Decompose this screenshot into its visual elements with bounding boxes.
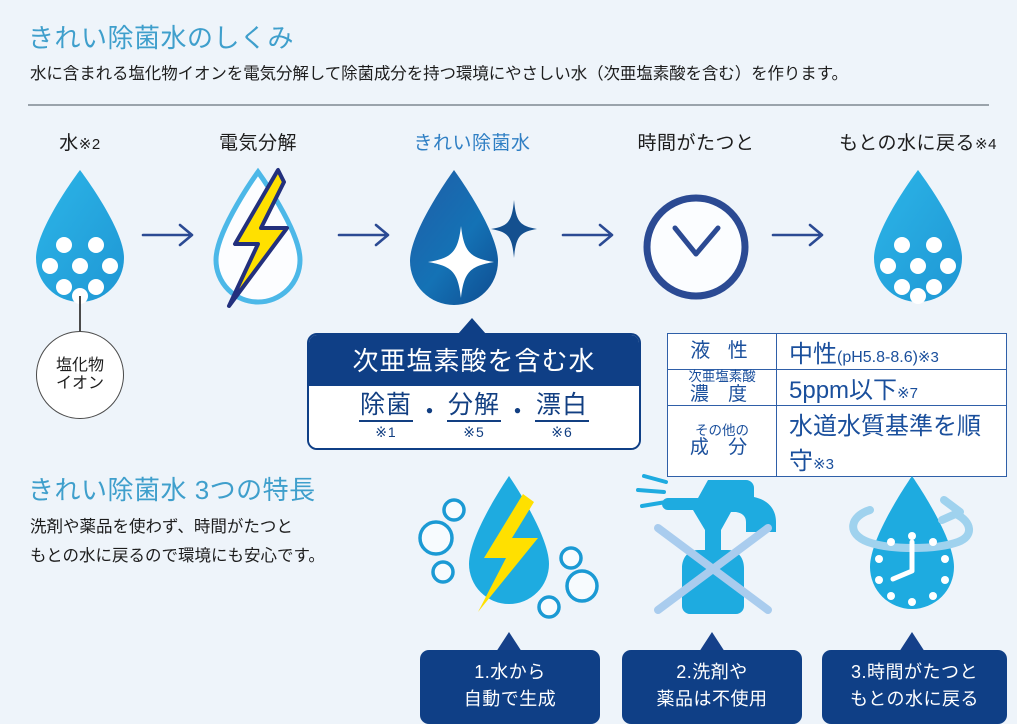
spec-key-text-top: その他の	[674, 424, 770, 439]
table-row: 液 性 中性(pH5.8-8.6)※3	[668, 334, 1007, 370]
hypochlorous-water-banner: 次亜塩素酸を含む水 除菌 ※1 ・ 分解 ※5 ・ 漂白 ※6	[307, 333, 641, 450]
spec-value-liquid-property: 中性(pH5.8-8.6)※3	[777, 334, 1007, 370]
ion-connector-line	[79, 296, 81, 334]
spec-value-main: 5ppm以下	[789, 377, 897, 404]
spec-key-other-components: その他の 成 分	[668, 406, 777, 477]
step-label-text: もとの水に戻る	[839, 133, 975, 154]
pill-line2: もとの水に戻る	[822, 686, 1007, 713]
spec-value-hypochlorous-concentration: 5ppm以下※7	[777, 370, 1007, 406]
electrolysis-drop-icon	[205, 166, 311, 315]
step-label-time-passes: 時間がたつと	[637, 128, 754, 155]
pill-pointer-2-icon	[699, 632, 725, 652]
flow-arrow-1-icon	[141, 222, 199, 253]
term-word: 除菌	[359, 391, 413, 422]
drop-lightning-bubbles-icon	[414, 472, 604, 627]
table-row: 次亜塩素酸 濃 度 5ppm以下※7	[668, 370, 1007, 406]
pill-line1: 3.時間がたつと	[822, 659, 1007, 686]
drop-clock-recycle-icon	[832, 472, 992, 627]
feature-pill-returns-to-water: 3.時間がたつと もとの水に戻る	[822, 650, 1007, 724]
step-label-text: きれい除菌水	[413, 133, 530, 154]
pill-line1: 2.洗剤や	[622, 659, 802, 686]
features-description-line2: もとの水に戻るので環境にも安心です。	[30, 542, 325, 571]
step-label-note: ※2	[79, 136, 101, 153]
clock-icon	[637, 188, 755, 311]
ion-label-line2: イオン	[56, 375, 104, 393]
term-note: ※6	[551, 423, 573, 441]
features-description: 洗剤や薬品を使わず、時間がたつと もとの水に戻るので環境にも安心です。	[30, 513, 325, 571]
pill-pointer-3-icon	[899, 632, 925, 652]
page-title: きれい除菌水のしくみ	[28, 18, 294, 55]
header-divider	[28, 104, 989, 106]
features-description-line1: 洗剤や薬品を使わず、時間がたつと	[30, 513, 325, 542]
spec-key-text-bottom: 成 分	[674, 438, 770, 459]
pill-line2: 自動で生成	[420, 686, 600, 713]
step-label-text: 時間がたつと	[637, 133, 754, 154]
infographic-page: きれい除菌水のしくみ 水に含まれる塩化物イオンを電気分解して除菌成分を持つ環境に…	[0, 0, 1017, 722]
features-title: きれい除菌水 3つの特長	[28, 470, 316, 507]
flow-arrow-4-icon	[771, 222, 829, 253]
term-separator: ・	[417, 392, 443, 428]
spec-value-note: ※3	[918, 349, 939, 366]
sanitizing-water-drop-icon	[404, 164, 540, 317]
banner-pointer-icon	[458, 318, 486, 334]
banner-terms: 除菌 ※1 ・ 分解 ※5 ・ 漂白 ※6	[309, 391, 639, 441]
spec-value-note: ※7	[897, 385, 918, 402]
step-label-text: 水	[59, 133, 79, 154]
feature-pill-no-detergent: 2.洗剤や 薬品は不使用	[622, 650, 802, 724]
table-row: その他の 成 分 水道水質基準を順守※3	[668, 406, 1007, 477]
step-label-water: 水※2	[59, 128, 100, 155]
ion-label-line1: 塩化物	[56, 357, 104, 375]
spec-value-other-components: 水道水質基準を順守※3	[777, 406, 1007, 477]
term-bleach: 漂白 ※6	[535, 391, 589, 441]
step-label-returns-to-water: もとの水に戻る※4	[839, 128, 997, 155]
pill-pointer-1-icon	[496, 632, 522, 652]
banner-body: 除菌 ※1 ・ 分解 ※5 ・ 漂白 ※6	[309, 386, 639, 448]
term-note: ※1	[375, 423, 397, 441]
pill-line1: 1.水から	[420, 659, 600, 686]
flow-arrow-3-icon	[561, 222, 619, 253]
step-label-sanitizing-water: きれい除菌水	[413, 128, 530, 155]
spec-key-liquid-property: 液 性	[668, 334, 777, 370]
spec-key-hypochlorous-concentration: 次亜塩素酸 濃 度	[668, 370, 777, 406]
spray-bottle-crossed-icon	[622, 472, 802, 627]
lead-description: 水に含まれる塩化物イオンを電気分解して除菌成分を持つ環境にやさしい水（次亜塩素酸…	[30, 60, 848, 84]
step-label-note: ※4	[975, 136, 997, 153]
specification-table: 液 性 中性(pH5.8-8.6)※3 次亜塩素酸 濃 度 5ppm以下※7 そ…	[667, 333, 1007, 477]
term-note: ※5	[463, 423, 485, 441]
spec-key-text: 液 性	[690, 340, 754, 362]
step-label-text: 電気分解	[219, 133, 297, 154]
banner-heading: 次亜塩素酸を含む水	[309, 335, 639, 386]
term-decompose: 分解 ※5	[447, 391, 501, 441]
step-label-electrolysis: 電気分解	[219, 128, 297, 155]
spec-key-text-bottom: 濃 度	[674, 385, 770, 406]
spec-key-text-top: 次亜塩素酸	[674, 370, 770, 385]
term-word: 分解	[447, 391, 501, 422]
water-drop-ions-icon	[29, 166, 131, 311]
spec-value-small: (pH5.8-8.6)	[837, 349, 918, 366]
term-separator: ・	[505, 392, 531, 428]
spec-value-note: ※3	[813, 456, 834, 473]
flow-arrow-2-icon	[337, 222, 395, 253]
spec-value-main: 中性	[789, 341, 837, 368]
pill-line2: 薬品は不使用	[622, 686, 802, 713]
chloride-ion-callout: 塩化物 イオン	[36, 331, 124, 419]
term-disinfect: 除菌 ※1	[359, 391, 413, 441]
feature-pill-auto-generation: 1.水から 自動で生成	[420, 650, 600, 724]
water-drop-ions-return-icon	[867, 166, 969, 311]
term-word: 漂白	[535, 391, 589, 422]
